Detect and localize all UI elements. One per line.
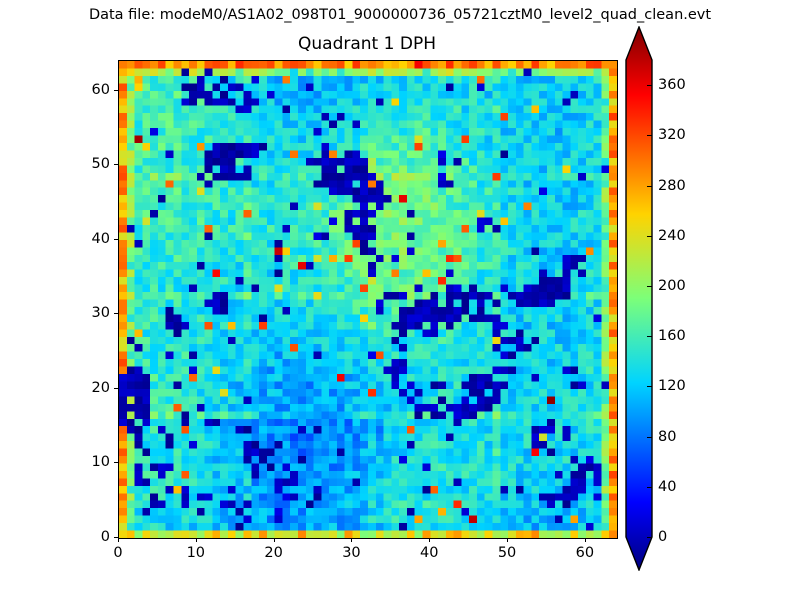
x-tick-mark (118, 538, 119, 542)
colorbar-tick-label: 0 (658, 529, 667, 545)
colorbar-tick-mark (647, 85, 652, 86)
colorbar-tick-mark (647, 537, 652, 538)
colorbar-tick-label: 280 (658, 178, 686, 194)
x-tick-mark (196, 538, 197, 542)
x-tick-mark (585, 538, 586, 542)
x-tick-mark (351, 538, 352, 542)
colorbar-gradient (625, 26, 653, 571)
y-tick-mark (114, 537, 118, 538)
x-tick-label: 60 (576, 545, 594, 561)
colorbar-tick-mark (647, 286, 652, 287)
y-tick-label: 50 (80, 156, 110, 172)
y-tick-mark (114, 388, 118, 389)
colorbar-tick-mark (647, 336, 652, 337)
colorbar (626, 60, 652, 537)
x-tick-label: 20 (264, 545, 282, 561)
colorbar-tick-label: 360 (658, 77, 686, 93)
x-tick-mark (429, 538, 430, 542)
y-tick-label: 10 (80, 454, 110, 470)
y-tick-mark (114, 313, 118, 314)
data-file-suptitle: Data file: modeM0/AS1A02_098T01_90000007… (0, 7, 800, 23)
y-tick-mark (114, 90, 118, 91)
x-tick-label: 0 (113, 545, 122, 561)
colorbar-tick-label: 80 (658, 429, 676, 445)
colorbar-tick-label: 40 (658, 479, 676, 495)
colorbar-tick-label: 160 (658, 328, 686, 344)
y-tick-label: 30 (80, 305, 110, 321)
x-tick-mark (507, 538, 508, 542)
plot-title: Quadrant 1 DPH (118, 34, 616, 54)
colorbar-tick-label: 200 (658, 278, 686, 294)
colorbar-tick-mark (647, 487, 652, 488)
y-tick-label: 0 (80, 529, 110, 545)
y-tick-mark (114, 239, 118, 240)
colorbar-tick-mark (647, 437, 652, 438)
heatmap-axes (118, 60, 618, 539)
colorbar-tick-mark (647, 386, 652, 387)
x-tick-label: 30 (342, 545, 360, 561)
x-tick-mark (274, 538, 275, 542)
y-tick-mark (114, 164, 118, 165)
x-tick-label: 50 (498, 545, 516, 561)
colorbar-tick-mark (647, 135, 652, 136)
colorbar-tick-label: 240 (658, 228, 686, 244)
colorbar-tick-mark (647, 236, 652, 237)
colorbar-tick-mark (647, 186, 652, 187)
dph-heatmap-image (119, 61, 617, 538)
y-tick-label: 60 (80, 82, 110, 98)
x-tick-label: 10 (187, 545, 205, 561)
y-tick-label: 40 (80, 231, 110, 247)
y-tick-label: 20 (80, 380, 110, 396)
colorbar-tick-label: 320 (658, 127, 686, 143)
y-tick-mark (114, 462, 118, 463)
matplotlib-figure: Data file: modeM0/AS1A02_098T01_90000007… (0, 0, 800, 600)
x-tick-label: 40 (420, 545, 438, 561)
colorbar-tick-label: 120 (658, 378, 686, 394)
